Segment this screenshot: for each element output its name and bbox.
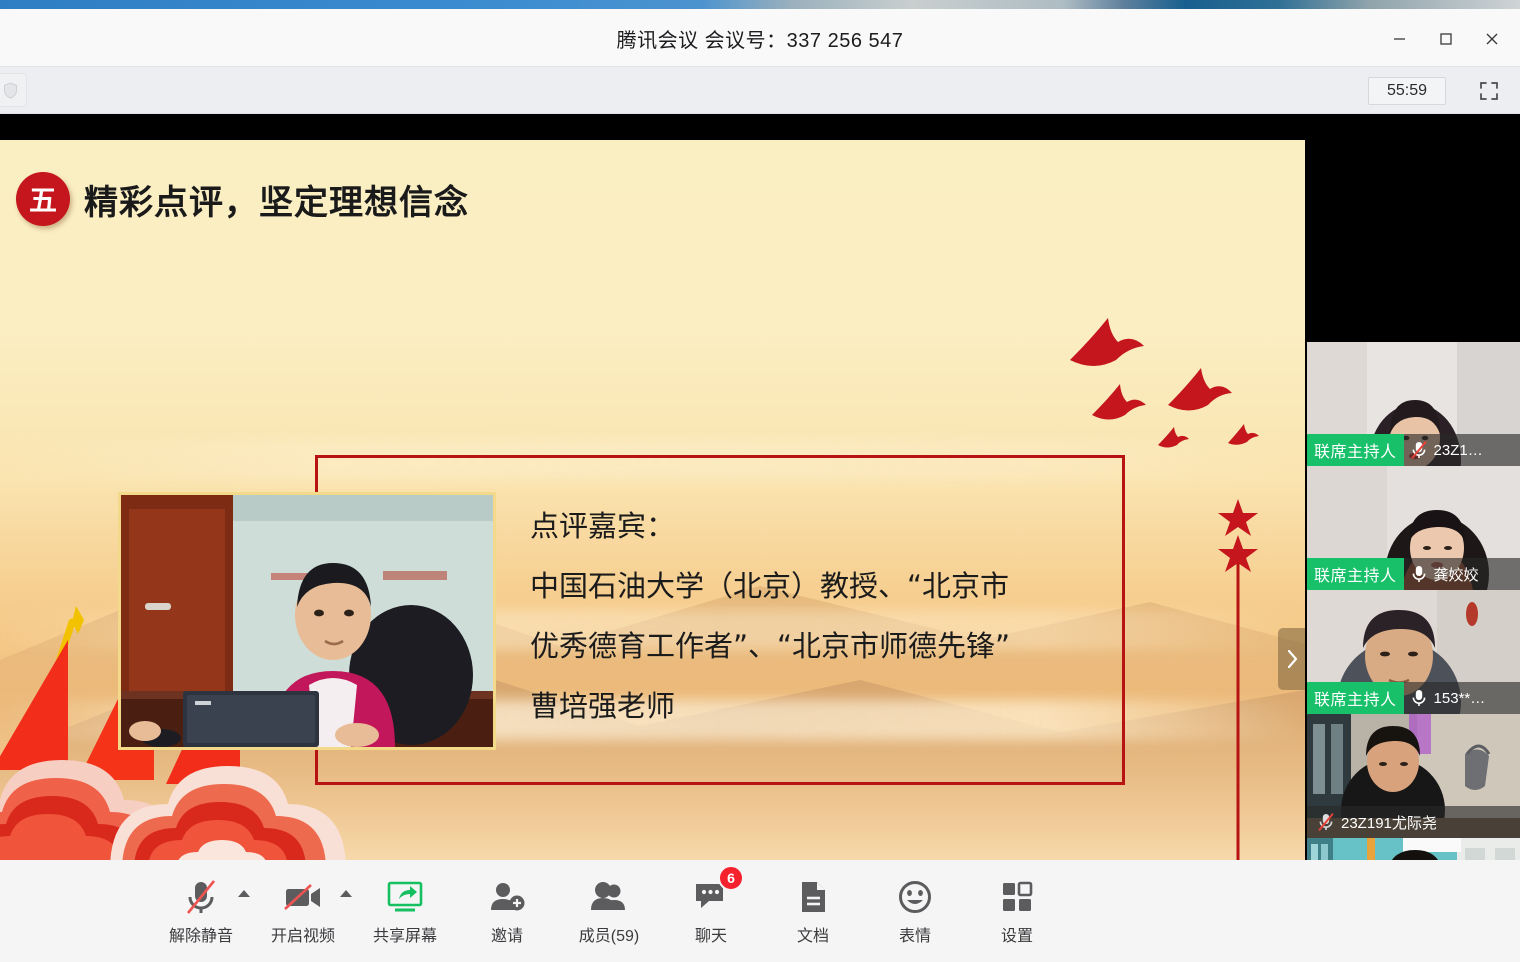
participant-name: 龚姣姣 bbox=[1434, 564, 1479, 585]
control-label: 聊天 bbox=[695, 922, 727, 946]
participant-tile[interactable]: 联席主持人 153**… bbox=[1307, 590, 1520, 714]
share-screen-icon bbox=[386, 874, 424, 920]
participant-name: 153**… bbox=[1434, 690, 1486, 707]
desktop-background-strip bbox=[0, 0, 1520, 9]
flying-birds-decoration bbox=[1050, 305, 1300, 465]
control-label: 开启视频 bbox=[271, 922, 335, 946]
mic-options-caret[interactable] bbox=[238, 890, 250, 897]
mic-on-icon bbox=[1404, 564, 1434, 584]
participant-label-bar: 联席主持人 龚姣姣 bbox=[1307, 558, 1520, 590]
meeting-timer: 55:59 bbox=[1368, 77, 1446, 105]
participant-tile[interactable]: 23Z191尤际尧 bbox=[1307, 714, 1520, 838]
settings-button[interactable]: 设置 bbox=[966, 860, 1068, 962]
participant-label-bar: 联席主持人 23Z1… bbox=[1307, 434, 1520, 466]
fullscreen-button[interactable] bbox=[1470, 75, 1508, 107]
add-user-icon bbox=[489, 874, 525, 920]
grid-settings-icon bbox=[1001, 874, 1033, 920]
window-controls bbox=[1376, 9, 1514, 67]
stars-rail-decoration bbox=[1218, 495, 1258, 860]
toolbar-controls: 解除静音 开启视频 bbox=[150, 860, 1068, 962]
guest-description: 点评嘉宾： 中国石油大学（北京）教授、“北京市 优秀德育工作者”、“北京市师德先… bbox=[530, 496, 1150, 736]
meeting-window: 腾讯会议 会议号：337 256 547 bbox=[0, 0, 1520, 962]
cohost-badge: 联席主持人 bbox=[1307, 558, 1404, 590]
document-button[interactable]: 文档 bbox=[762, 860, 864, 962]
minimize-icon bbox=[1391, 30, 1408, 47]
emoji-button[interactable]: 表情 bbox=[864, 860, 966, 962]
section-number-badge: 五 bbox=[16, 172, 70, 226]
mic-muted-icon bbox=[184, 874, 218, 920]
participant-tile[interactable]: 联席主持人 龚姣姣 bbox=[1307, 466, 1520, 590]
guest-portrait-image bbox=[121, 495, 493, 747]
participant-rail: 联席主持人 23Z1… bbox=[1307, 228, 1520, 962]
people-icon bbox=[590, 874, 628, 920]
meeting-stage: 五 精彩点评，坚定理想信念 bbox=[0, 114, 1520, 860]
document-icon bbox=[798, 874, 828, 920]
chat-unread-badge: 6 bbox=[718, 865, 744, 891]
participant-name: 23Z1… bbox=[1434, 442, 1483, 459]
close-icon bbox=[1483, 30, 1500, 47]
cohost-badge: 联席主持人 bbox=[1307, 434, 1404, 466]
control-label: 文档 bbox=[797, 922, 829, 946]
cohost-badge: 联席主持人 bbox=[1307, 682, 1404, 714]
participant-tile[interactable]: 联席主持人 23Z1… bbox=[1307, 342, 1520, 466]
chevron-right-icon bbox=[1285, 648, 1299, 670]
meeting-sub-toolbar: 55:59 bbox=[0, 67, 1520, 114]
maximize-icon bbox=[1437, 30, 1454, 47]
close-button[interactable] bbox=[1468, 18, 1514, 58]
control-label: 成员(59) bbox=[579, 922, 639, 946]
fullscreen-icon bbox=[1478, 80, 1500, 102]
shared-screen-slide: 五 精彩点评，坚定理想信念 bbox=[0, 140, 1305, 860]
collapse-rail-button[interactable] bbox=[1278, 628, 1305, 690]
window-title: 腾讯会议 会议号：337 256 547 bbox=[0, 9, 1520, 67]
share-screen-button[interactable]: 共享屏幕 bbox=[354, 860, 456, 962]
control-label: 表情 bbox=[899, 922, 931, 946]
invite-button[interactable]: 邀请 bbox=[456, 860, 558, 962]
video-options-caret[interactable] bbox=[340, 890, 352, 897]
guest-photo bbox=[118, 492, 496, 750]
camera-off-icon bbox=[283, 874, 323, 920]
meeting-toolbar: 解除静音 开启视频 bbox=[0, 860, 1520, 962]
emoji-icon bbox=[898, 874, 932, 920]
slide-heading: 五 精彩点评，坚定理想信念 bbox=[16, 172, 469, 226]
participant-name: 23Z191尤际尧 bbox=[1341, 812, 1437, 833]
control-label: 解除静音 bbox=[169, 922, 233, 946]
chat-button[interactable]: 6 聊天 bbox=[660, 860, 762, 962]
maximize-button[interactable] bbox=[1422, 18, 1468, 58]
control-label: 邀请 bbox=[491, 922, 523, 946]
minimize-button[interactable] bbox=[1376, 18, 1422, 58]
title-bar: 腾讯会议 会议号：337 256 547 bbox=[0, 9, 1520, 67]
video-button[interactable]: 开启视频 bbox=[252, 860, 354, 962]
mute-button[interactable]: 解除静音 bbox=[150, 860, 252, 962]
shield-icon bbox=[3, 82, 18, 99]
slide-title: 精彩点评，坚定理想信念 bbox=[84, 175, 469, 224]
control-label: 共享屏幕 bbox=[373, 922, 437, 946]
mic-muted-icon bbox=[1404, 440, 1434, 460]
mic-on-icon bbox=[1404, 688, 1434, 708]
mic-muted-icon bbox=[1311, 812, 1341, 832]
participants-button[interactable]: 成员(59) bbox=[558, 860, 660, 962]
participant-label-bar: 23Z191尤际尧 bbox=[1307, 806, 1520, 838]
control-label: 设置 bbox=[1001, 922, 1033, 946]
security-button[interactable] bbox=[0, 73, 27, 107]
participant-label-bar: 联席主持人 153**… bbox=[1307, 682, 1520, 714]
